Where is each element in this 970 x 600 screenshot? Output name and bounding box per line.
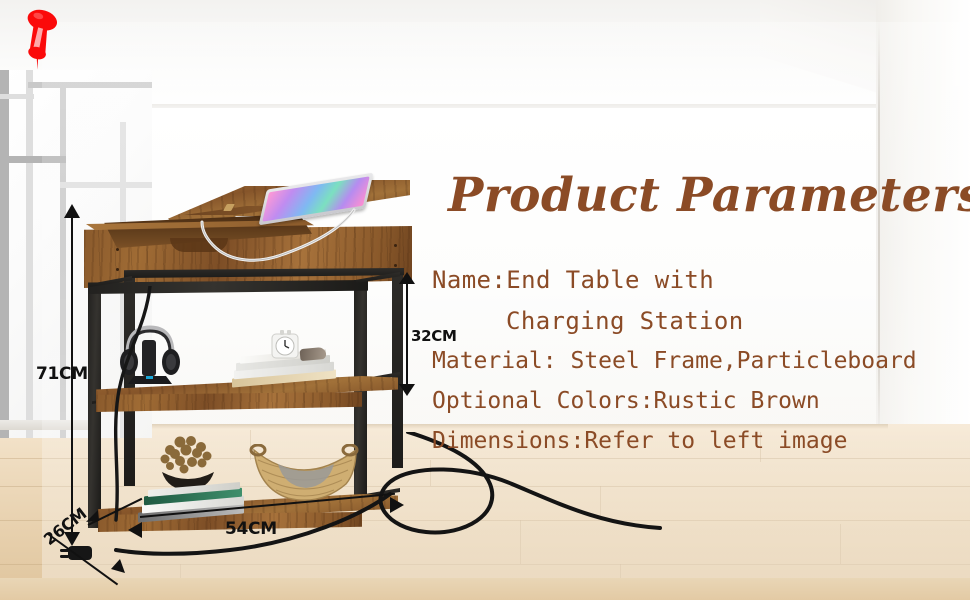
page-title: Product Parameters <box>448 168 970 223</box>
screw <box>394 264 397 267</box>
screw <box>116 268 119 271</box>
screw <box>394 244 397 247</box>
product-parameters-infographic: 71CM 32CM 54CM 26CM Product Par <box>0 0 970 600</box>
pushpin-icon <box>14 8 72 70</box>
spec-list: Name:End Table with Charging Station Mat… <box>432 268 952 470</box>
alarm-clock <box>268 330 302 360</box>
dimension-label-54cm: 54CM <box>225 519 277 539</box>
charging-cable <box>172 204 362 274</box>
spec-name-line1: Name:End Table with <box>432 268 952 292</box>
spec-material: Material: Steel Frame,Particleboard <box>432 350 952 373</box>
decor-object-middle <box>300 347 327 361</box>
screw <box>116 248 119 251</box>
dimension-label-71cm: 71CM <box>36 364 88 384</box>
depth-leader-arrow <box>84 508 100 524</box>
spec-name-line2: Charging Station <box>432 309 952 333</box>
spec-dimensions: Dimensions:Refer to left image <box>432 430 952 453</box>
spec-colors: Optional Colors:Rustic Brown <box>432 390 952 413</box>
